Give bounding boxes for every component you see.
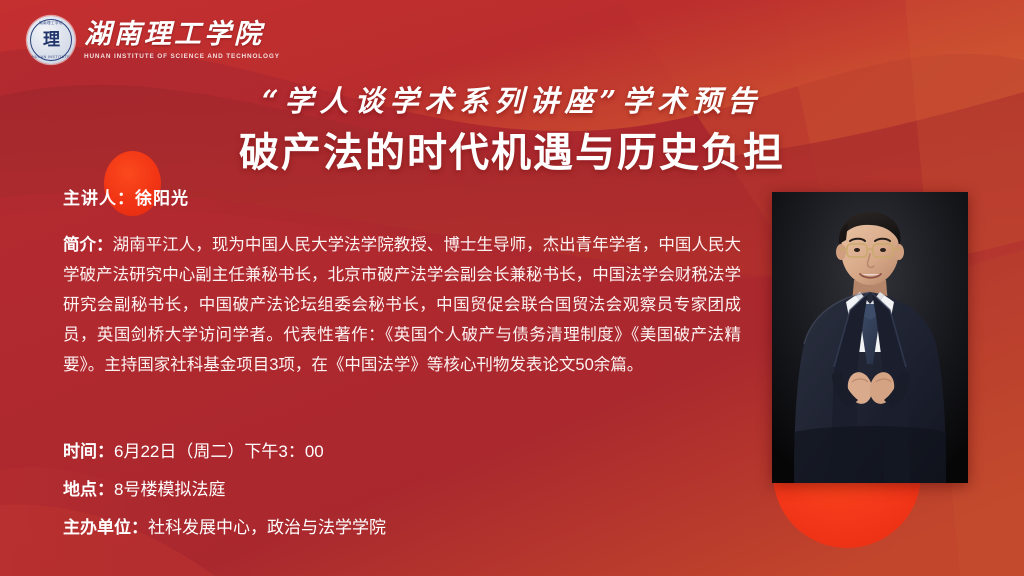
event-details: 时间：6月22日（周二）下午3：00 地点：8号楼模拟法庭 主办单位：社科发展中…: [63, 437, 386, 538]
speaker-line: 主讲人：徐阳光: [63, 184, 189, 209]
university-wordmark: 湖南理工学院 HUNAN INSTITUTE OF SCIENCE AND TE…: [84, 20, 280, 59]
emblem-ring-top-text: 湖南理工学院: [27, 21, 75, 26]
event-location-value: 8号楼模拟法庭: [114, 480, 225, 499]
university-emblem-icon: 湖南理工学院 理 HUNAN INSTITUTE: [27, 16, 75, 64]
portrait-illustration: [772, 192, 968, 483]
event-detail-organizer: 主办单位：社科发展中心，政治与法学学院: [63, 513, 386, 538]
event-time-label: 时间：: [63, 442, 114, 461]
lecture-poster: 湖南理工学院 理 HUNAN INSTITUTE 湖南理工学院 HUNAN IN…: [0, 0, 1024, 576]
event-time-value: 6月22日（周二）下午3：00: [114, 442, 324, 461]
speaker-portrait-photo: [772, 192, 968, 483]
emblem-center-glyph: 理: [43, 32, 59, 49]
portrait-figure: [772, 192, 968, 483]
university-name-en: HUNAN INSTITUTE OF SCIENCE AND TECHNOLOG…: [84, 53, 280, 60]
event-detail-location: 地点：8号楼模拟法庭: [63, 475, 386, 500]
biography-label: 简介：: [63, 236, 113, 254]
page-title: 破产法的时代机遇与历史负担: [0, 120, 1024, 178]
speaker-biography: 简介：湖南平江人，现为中国人民大学法学院教授、博士生导师，杰出青年学者，中国人民…: [63, 230, 741, 380]
event-location-label: 地点：: [63, 480, 114, 499]
event-detail-time: 时间：6月22日（周二）下午3：00: [63, 437, 386, 462]
university-logo: 湖南理工学院 理 HUNAN INSTITUTE 湖南理工学院 HUNAN IN…: [27, 16, 280, 64]
series-title: “学人谈学术系列讲座”学术预告: [0, 78, 1024, 120]
emblem-ring-bottom-text: HUNAN INSTITUTE: [27, 55, 75, 59]
biography-text: 湖南平江人，现为中国人民大学法学院教授、博士生导师，杰出青年学者，中国人民大学破…: [63, 236, 741, 374]
event-organizer-value: 社科发展中心，政治与法学学院: [148, 518, 386, 537]
university-name-cn: 湖南理工学院: [84, 20, 280, 50]
event-organizer-label: 主办单位：: [63, 518, 148, 537]
